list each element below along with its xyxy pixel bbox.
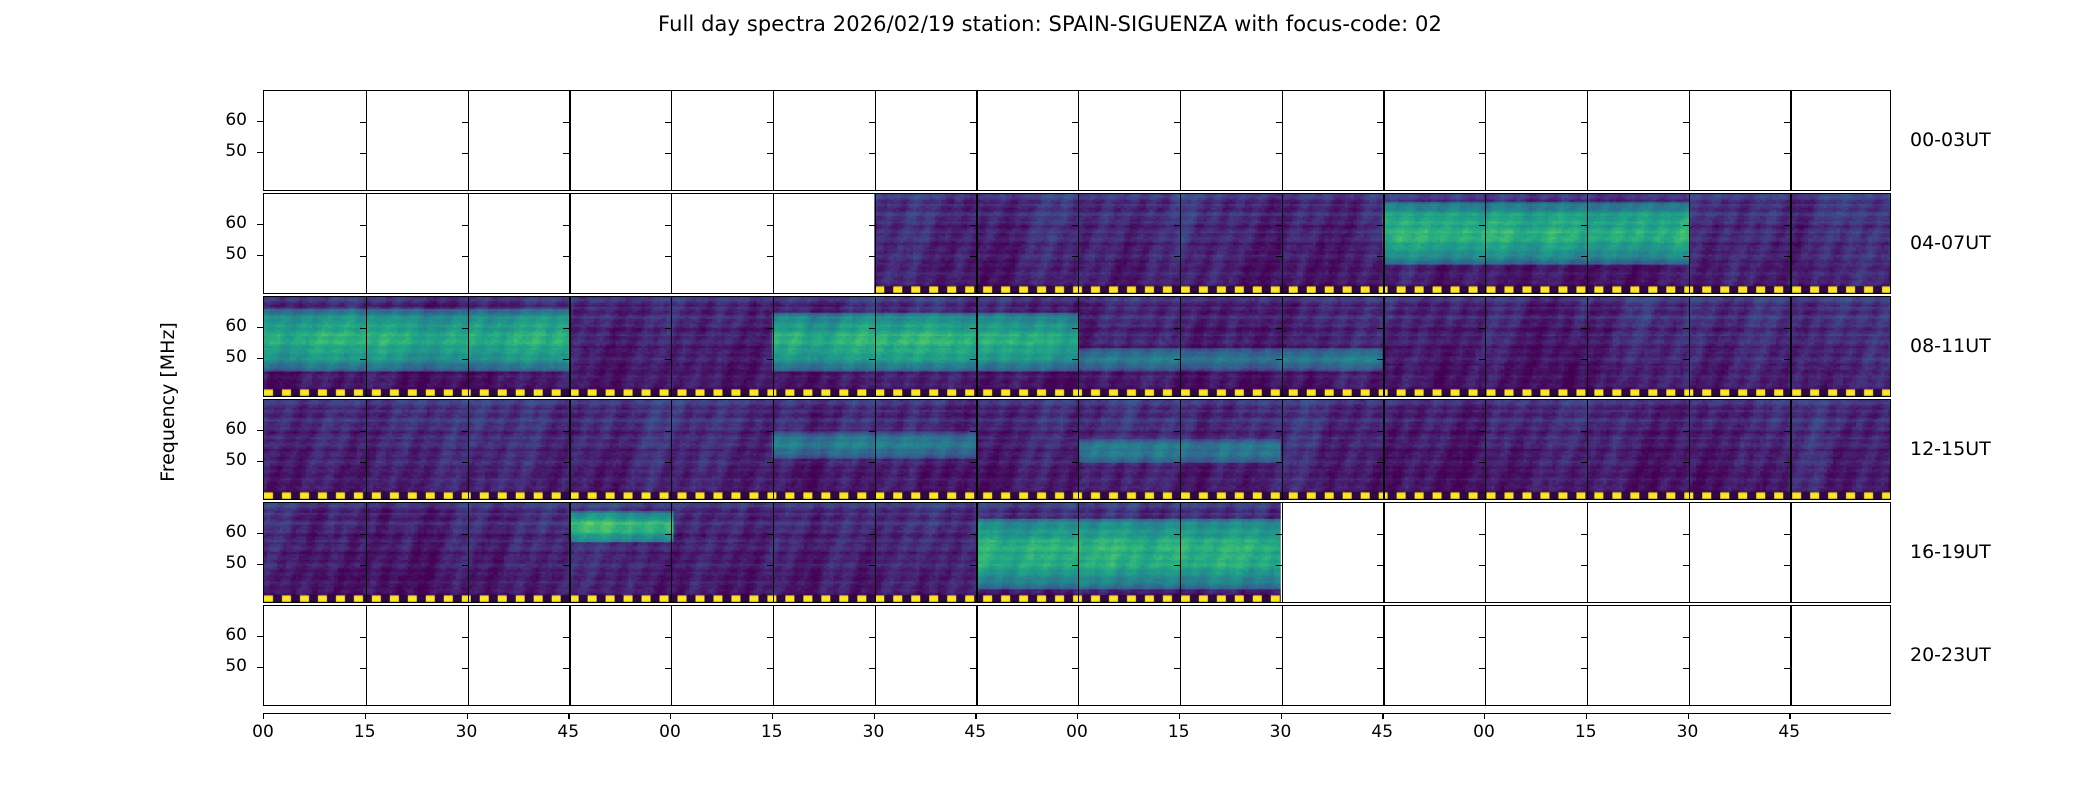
x-axis-tick-label: 00 [659, 722, 681, 742]
y-tick-mark [767, 225, 773, 226]
x-axis-tick-label: 00 [1473, 722, 1495, 742]
row-time-label: 12-15UT [1910, 438, 1991, 460]
y-tick-mark [1276, 431, 1282, 432]
y-tick-mark [665, 225, 671, 226]
y-tick-mark [970, 359, 976, 360]
subpanel-divider [671, 91, 672, 190]
subpanel-divider [976, 606, 977, 705]
y-tick-mark [1276, 122, 1282, 123]
y-tick-mark [1683, 668, 1689, 669]
spectrogram-row [263, 399, 1891, 500]
y-tick-mark [1784, 431, 1790, 432]
y-tick-mark [1276, 153, 1282, 154]
y-tick-mark [1581, 431, 1587, 432]
y-tick-mark [1276, 637, 1282, 638]
y-tick-mark [1174, 225, 1180, 226]
x-axis-tick-label: 15 [1575, 722, 1597, 742]
y-axis-tick-label: 50 [183, 141, 247, 161]
y-axis-tick-label: 60 [183, 522, 247, 542]
y-tick-mark [970, 256, 976, 257]
y-tick-mark [1581, 256, 1587, 257]
y-tick-mark [1276, 225, 1282, 226]
y-tick-mark [970, 328, 976, 329]
y-tick-mark [1479, 225, 1485, 226]
y-tick-mark [970, 534, 976, 535]
y-tick-mark [1683, 462, 1689, 463]
subpanel-divider [1282, 91, 1283, 190]
y-tick-mark [1377, 225, 1383, 226]
subpanel-divider [569, 400, 570, 499]
y-tick-mark [1784, 225, 1790, 226]
subpanel-divider [1383, 503, 1384, 602]
subpanel-divider [1282, 503, 1283, 602]
y-tick-mark [1276, 256, 1282, 257]
y-tick-mark [767, 328, 773, 329]
y-tick-mark [1072, 153, 1078, 154]
y-tick-mark [970, 431, 976, 432]
y-tick-mark [665, 534, 671, 535]
y-tick-mark [869, 328, 875, 329]
y-tick-mark [1581, 668, 1587, 669]
subpanel-divider [1587, 400, 1588, 499]
y-axis-tick [257, 533, 263, 534]
row-time-label: 16-19UT [1910, 541, 1991, 563]
y-tick-mark [462, 462, 468, 463]
y-tick-mark [869, 534, 875, 535]
x-axis-tick [263, 713, 264, 719]
subpanel-divider [1383, 400, 1384, 499]
x-axis-tick-label: 45 [557, 722, 579, 742]
y-tick-mark [1174, 565, 1180, 566]
y-tick-mark [563, 328, 569, 329]
y-axis-tick [257, 327, 263, 328]
y-tick-mark [1784, 153, 1790, 154]
y-tick-mark [563, 359, 569, 360]
y-tick-mark [1174, 534, 1180, 535]
y-tick-mark [462, 328, 468, 329]
y-tick-mark [462, 153, 468, 154]
y-tick-mark [665, 153, 671, 154]
y-axis-tick-label: 50 [183, 656, 247, 676]
y-tick-mark [1581, 462, 1587, 463]
x-axis-tick [874, 713, 875, 719]
subpanel-divider [1689, 606, 1690, 705]
spectrogram-canvas [264, 606, 1890, 705]
y-tick-mark [1784, 462, 1790, 463]
y-tick-mark [1072, 668, 1078, 669]
subpanel-divider [468, 194, 469, 293]
y-tick-mark [1683, 225, 1689, 226]
y-tick-mark [1174, 431, 1180, 432]
y-tick-mark [1276, 668, 1282, 669]
subpanel-divider [773, 91, 774, 190]
y-tick-mark [1581, 637, 1587, 638]
y-tick-mark [360, 668, 366, 669]
y-tick-mark [1174, 668, 1180, 669]
y-tick-mark [1784, 637, 1790, 638]
subpanel-divider [1485, 91, 1486, 190]
y-tick-mark [767, 256, 773, 257]
y-tick-mark [1479, 534, 1485, 535]
spectrogram-row [263, 502, 1891, 603]
y-tick-mark [462, 431, 468, 432]
y-tick-mark [1784, 359, 1790, 360]
spectrogram-canvas [264, 503, 1890, 602]
x-axis-tick-label: 00 [252, 722, 274, 742]
y-tick-mark [1072, 256, 1078, 257]
x-axis-tick [1789, 713, 1790, 719]
subpanel-divider [1689, 91, 1690, 190]
y-tick-mark [1377, 668, 1383, 669]
subpanel-divider [366, 503, 367, 602]
y-tick-mark [1072, 431, 1078, 432]
y-tick-mark [1581, 565, 1587, 566]
y-tick-mark [360, 122, 366, 123]
y-tick-mark [360, 225, 366, 226]
y-tick-mark [1377, 565, 1383, 566]
y-tick-mark [462, 637, 468, 638]
x-axis-tick-label: 15 [354, 722, 376, 742]
x-axis-tick [1484, 713, 1485, 719]
y-tick-mark [462, 534, 468, 535]
x-axis-tick-label: 30 [1270, 722, 1292, 742]
subpanel-divider [671, 194, 672, 293]
y-axis-tick-label: 60 [183, 316, 247, 336]
y-tick-mark [563, 225, 569, 226]
y-tick-mark [563, 534, 569, 535]
y-axis-tick-label: 50 [183, 347, 247, 367]
y-tick-mark [1683, 565, 1689, 566]
y-tick-mark [1581, 153, 1587, 154]
subpanel-divider [1282, 297, 1283, 396]
subpanel-divider [1078, 503, 1079, 602]
spectrogram-row [263, 90, 1891, 191]
x-axis-tick [568, 713, 569, 719]
y-tick-mark [1174, 359, 1180, 360]
y-tick-mark [1072, 565, 1078, 566]
subpanel-divider [1790, 606, 1791, 705]
subpanel-divider [1790, 503, 1791, 602]
subpanel-divider [1587, 503, 1588, 602]
spectrogram-canvas [264, 400, 1890, 499]
y-tick-mark [1174, 153, 1180, 154]
subpanel-divider [875, 297, 876, 396]
y-tick-mark [563, 256, 569, 257]
y-tick-mark [869, 256, 875, 257]
y-axis-tick [257, 358, 263, 359]
y-tick-mark [869, 431, 875, 432]
y-axis-tick-label: 60 [183, 213, 247, 233]
y-tick-mark [767, 122, 773, 123]
y-tick-mark [1072, 637, 1078, 638]
y-tick-mark [1683, 153, 1689, 154]
y-tick-mark [1784, 122, 1790, 123]
subpanel-divider [468, 606, 469, 705]
y-tick-mark [665, 122, 671, 123]
x-axis-tick-label: 45 [1778, 722, 1800, 742]
y-tick-mark [563, 122, 569, 123]
y-tick-mark [563, 668, 569, 669]
subpanel-divider [1587, 297, 1588, 396]
y-tick-mark [1479, 328, 1485, 329]
y-tick-mark [1072, 225, 1078, 226]
row-time-label: 04-07UT [1910, 232, 1991, 254]
y-tick-mark [665, 328, 671, 329]
x-axis-tick-label: 30 [456, 722, 478, 742]
x-axis-tick-label: 45 [964, 722, 986, 742]
y-tick-mark [970, 225, 976, 226]
x-axis-tick [1688, 713, 1689, 719]
y-tick-mark [563, 431, 569, 432]
y-tick-mark [1581, 328, 1587, 329]
row-time-label: 00-03UT [1910, 129, 1991, 151]
y-tick-mark [1581, 225, 1587, 226]
y-tick-mark [970, 153, 976, 154]
y-tick-mark [767, 534, 773, 535]
subpanel-divider [1485, 400, 1486, 499]
y-axis-label: Frequency [MHz] [157, 322, 179, 482]
y-tick-mark [767, 565, 773, 566]
y-tick-mark [970, 668, 976, 669]
y-tick-mark [1377, 431, 1383, 432]
x-axis-tick-label: 15 [761, 722, 783, 742]
y-tick-mark [1683, 637, 1689, 638]
x-axis-tick [467, 713, 468, 719]
y-tick-mark [1072, 328, 1078, 329]
y-tick-mark [563, 153, 569, 154]
subpanel-divider [1180, 503, 1181, 602]
y-tick-mark [665, 565, 671, 566]
y-axis-tick [257, 636, 263, 637]
subpanel-divider [1383, 297, 1384, 396]
subpanel-divider [569, 503, 570, 602]
subpanel-divider [1180, 91, 1181, 190]
y-tick-mark [1276, 534, 1282, 535]
y-tick-mark [563, 462, 569, 463]
page-title: Full day spectra 2026/02/19 station: SPA… [0, 12, 2100, 36]
y-tick-mark [462, 565, 468, 566]
y-tick-mark [767, 153, 773, 154]
y-tick-mark [360, 328, 366, 329]
y-tick-mark [1377, 328, 1383, 329]
x-axis-tick [1382, 713, 1383, 719]
spectrogram-row [263, 193, 1891, 294]
spectrogram-figure: Full day spectra 2026/02/19 station: SPA… [0, 0, 2100, 800]
y-tick-mark [970, 122, 976, 123]
subpanel-divider [1383, 194, 1384, 293]
x-axis-tick [670, 713, 671, 719]
y-tick-mark [360, 462, 366, 463]
subpanel-divider [1689, 400, 1690, 499]
x-axis-tick-label: 45 [1371, 722, 1393, 742]
y-axis-tick [257, 121, 263, 122]
x-axis-tick-label: 30 [863, 722, 885, 742]
y-tick-mark [767, 431, 773, 432]
spectrogram-canvas [264, 91, 1890, 190]
y-axis-tick-label: 60 [183, 625, 247, 645]
y-tick-mark [360, 153, 366, 154]
y-tick-mark [1683, 359, 1689, 360]
subpanel-divider [875, 606, 876, 705]
subpanel-divider [1180, 606, 1181, 705]
y-tick-mark [1377, 462, 1383, 463]
subpanel-divider [1485, 194, 1486, 293]
y-tick-mark [869, 225, 875, 226]
y-tick-mark [767, 462, 773, 463]
y-tick-mark [360, 637, 366, 638]
subpanel-divider [1587, 606, 1588, 705]
y-tick-mark [1784, 565, 1790, 566]
x-axis-tick [365, 713, 366, 719]
subpanel-divider [366, 400, 367, 499]
y-tick-mark [869, 153, 875, 154]
subpanel-divider [671, 400, 672, 499]
y-axis-tick-label: 50 [183, 450, 247, 470]
y-tick-mark [1479, 431, 1485, 432]
y-tick-mark [1377, 256, 1383, 257]
y-axis-tick [257, 564, 263, 565]
y-tick-mark [1377, 534, 1383, 535]
y-tick-mark [1683, 256, 1689, 257]
subpanel-divider [671, 503, 672, 602]
y-tick-mark [1174, 328, 1180, 329]
row-time-label: 20-23UT [1910, 644, 1991, 666]
subpanel-divider [468, 400, 469, 499]
y-tick-mark [1683, 534, 1689, 535]
y-tick-mark [1377, 153, 1383, 154]
x-axis-tick [975, 713, 976, 719]
y-tick-mark [665, 431, 671, 432]
y-tick-mark [1479, 122, 1485, 123]
subpanel-divider [1587, 91, 1588, 190]
y-tick-mark [462, 359, 468, 360]
subpanel-divider [1790, 297, 1791, 396]
subpanel-divider [1180, 400, 1181, 499]
subpanel-divider [468, 297, 469, 396]
y-tick-mark [1683, 431, 1689, 432]
y-tick-mark [1683, 122, 1689, 123]
subpanel-divider [569, 91, 570, 190]
subpanel-divider [773, 194, 774, 293]
y-tick-mark [563, 565, 569, 566]
row-time-label: 08-11UT [1910, 335, 1991, 357]
x-axis-tick-label: 30 [1677, 722, 1699, 742]
subpanel-divider [875, 91, 876, 190]
subpanel-divider [976, 503, 977, 602]
subpanel-divider [1790, 400, 1791, 499]
x-axis-tick-label: 15 [1168, 722, 1190, 742]
y-tick-mark [1479, 565, 1485, 566]
subpanel-divider [875, 503, 876, 602]
subpanel-divider [1078, 297, 1079, 396]
y-tick-mark [1683, 328, 1689, 329]
x-axis-tick [1077, 713, 1078, 719]
subpanel-divider [976, 297, 977, 396]
subpanel-divider [1282, 194, 1283, 293]
y-axis-tick-label: 50 [183, 244, 247, 264]
subpanel-divider [1485, 503, 1486, 602]
y-tick-mark [665, 359, 671, 360]
subpanel-divider [569, 194, 570, 293]
subpanel-divider [1790, 91, 1791, 190]
y-tick-mark [1581, 359, 1587, 360]
y-tick-mark [1377, 122, 1383, 123]
y-tick-mark [970, 565, 976, 566]
y-tick-mark [360, 565, 366, 566]
y-tick-mark [970, 462, 976, 463]
subpanel-divider [1180, 194, 1181, 293]
y-tick-mark [1174, 122, 1180, 123]
subpanel-divider [773, 503, 774, 602]
y-tick-mark [665, 637, 671, 638]
subpanel-divider [671, 297, 672, 396]
y-tick-mark [665, 462, 671, 463]
subpanel-divider [976, 194, 977, 293]
subpanel-divider [976, 400, 977, 499]
y-tick-mark [869, 637, 875, 638]
y-tick-mark [1784, 534, 1790, 535]
y-tick-mark [1784, 328, 1790, 329]
y-tick-mark [869, 122, 875, 123]
y-tick-mark [1479, 668, 1485, 669]
y-tick-mark [1174, 462, 1180, 463]
y-tick-mark [1276, 565, 1282, 566]
subpanel-divider [1078, 194, 1079, 293]
subpanel-divider [773, 297, 774, 396]
x-axis-tick [772, 713, 773, 719]
subpanel-divider [1078, 400, 1079, 499]
y-tick-mark [869, 359, 875, 360]
subpanel-divider [1282, 606, 1283, 705]
subpanel-divider [1383, 91, 1384, 190]
subpanel-divider [468, 503, 469, 602]
y-axis-tick [257, 152, 263, 153]
subpanel-divider [773, 400, 774, 499]
y-tick-mark [1276, 462, 1282, 463]
y-tick-mark [563, 637, 569, 638]
x-axis-tick [1179, 713, 1180, 719]
y-tick-mark [665, 256, 671, 257]
y-tick-mark [767, 637, 773, 638]
y-tick-mark [869, 462, 875, 463]
subpanel-divider [569, 297, 570, 396]
x-axis-tick-label: 00 [1066, 722, 1088, 742]
subpanel-divider [671, 606, 672, 705]
y-tick-mark [1581, 534, 1587, 535]
subpanel-divider [366, 297, 367, 396]
y-tick-mark [360, 534, 366, 535]
subpanel-divider [1689, 503, 1690, 602]
y-tick-mark [1581, 122, 1587, 123]
y-tick-mark [462, 668, 468, 669]
y-tick-mark [1479, 359, 1485, 360]
subpanel-divider [1689, 194, 1690, 293]
y-tick-mark [869, 668, 875, 669]
y-tick-mark [1276, 359, 1282, 360]
y-tick-mark [1377, 637, 1383, 638]
subpanel-divider [1587, 194, 1588, 293]
subpanel-divider [773, 606, 774, 705]
y-tick-mark [1072, 359, 1078, 360]
subpanel-divider [468, 91, 469, 190]
subpanel-divider [1180, 297, 1181, 396]
y-tick-mark [970, 637, 976, 638]
y-tick-mark [1072, 534, 1078, 535]
y-tick-mark [462, 225, 468, 226]
y-axis-tick-label: 50 [183, 553, 247, 573]
y-tick-mark [462, 256, 468, 257]
spectrogram-row [263, 296, 1891, 397]
